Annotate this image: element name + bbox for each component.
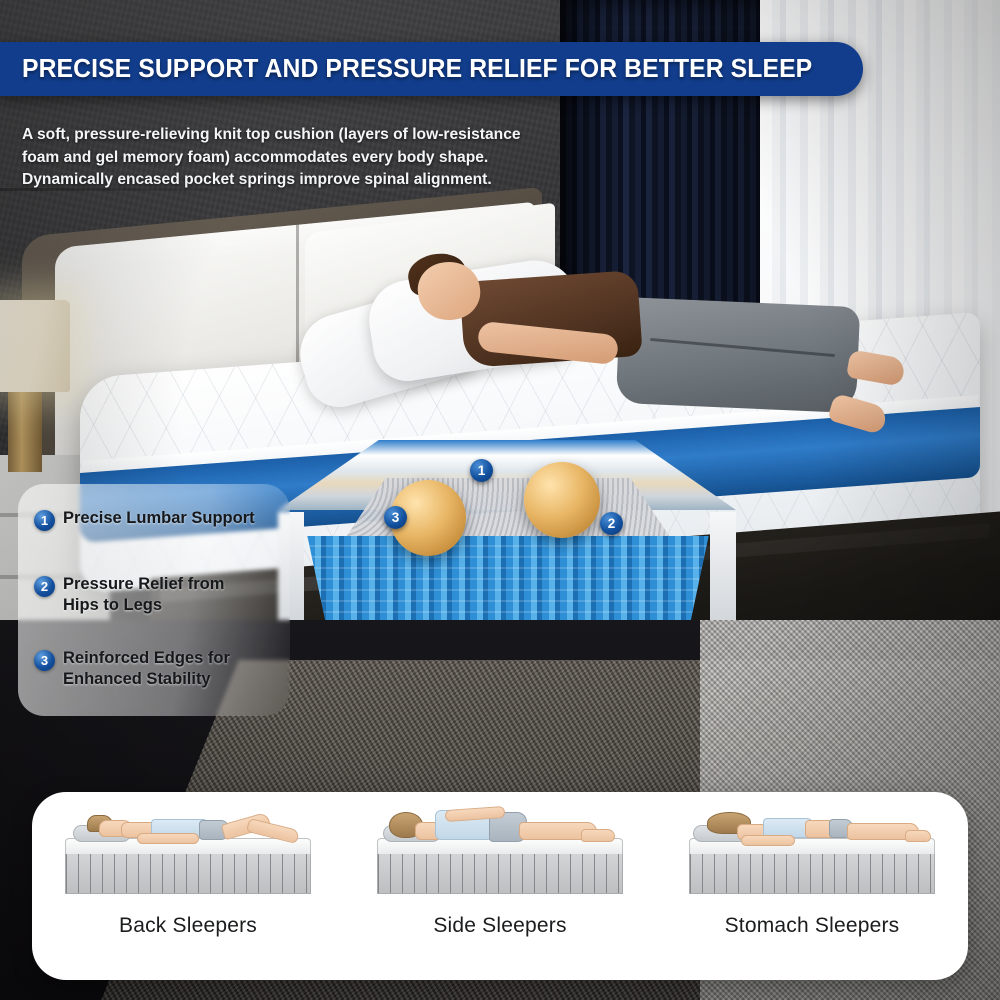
description-block: A soft, pressure-relieving knit top cush… — [22, 124, 602, 192]
sleep-position-back: Back Sleepers — [32, 792, 344, 980]
cutaway-reinforced-edge — [710, 512, 736, 632]
feature-item-2: 2 Pressure Relief from Hips to Legs — [34, 574, 224, 616]
pressure-demo-ball — [524, 462, 600, 538]
feature-label: Reinforced Edges for Enhanced Stability — [63, 648, 230, 690]
lamp-shade — [0, 300, 70, 392]
sleep-positions-card: Back Sleepers Side Sleepers — [32, 792, 968, 980]
header-banner: PRECISE SUPPORT AND PRESSURE RELIEF FOR … — [0, 42, 863, 96]
description-line-3: Dynamically encased pocket springs impro… — [22, 169, 602, 192]
infographic-root: PRECISE SUPPORT AND PRESSURE RELIEF FOR … — [0, 0, 1000, 1000]
feature-label: Pressure Relief from Hips to Legs — [63, 574, 224, 616]
illustration-mattress-base — [689, 852, 935, 894]
feature-number-badge-icon: 1 — [34, 510, 55, 531]
callout-badge-3-icon: 3 — [384, 506, 407, 529]
callout-badge-1-icon: 1 — [470, 459, 493, 482]
feature-list-panel: 1 Precise Lumbar Support 2 Pressure Reli… — [18, 484, 290, 716]
sleep-position-stomach: Stomach Sleepers — [656, 792, 968, 980]
illustration-feet — [581, 829, 615, 842]
sleep-position-label: Side Sleepers — [433, 914, 566, 938]
callout-badge-2-icon: 2 — [600, 512, 623, 535]
feature-number-badge-icon: 3 — [34, 650, 55, 671]
sleep-position-label: Stomach Sleepers — [725, 914, 900, 938]
sleep-position-label: Back Sleepers — [119, 914, 257, 938]
side-sleeper-illustration — [371, 808, 629, 900]
sleep-position-side: Side Sleepers — [344, 792, 656, 980]
lamp-base — [8, 392, 42, 472]
feature-label: Precise Lumbar Support — [63, 508, 255, 529]
stomach-sleeper-illustration — [683, 808, 941, 900]
illustration-arm — [741, 835, 795, 846]
illustration-mattress-base — [65, 852, 311, 894]
description-line-1: A soft, pressure-relieving knit top cush… — [22, 124, 602, 147]
feature-number-badge-icon: 2 — [34, 576, 55, 597]
banner-title: PRECISE SUPPORT AND PRESSURE RELIEF FOR … — [22, 55, 812, 84]
illustration-feet — [905, 830, 931, 842]
man-foot — [827, 393, 889, 435]
feature-item-1: 1 Precise Lumbar Support — [34, 508, 255, 531]
illustration-arm — [137, 833, 199, 844]
back-sleeper-illustration — [59, 808, 317, 900]
illustration-mattress-base — [377, 852, 623, 894]
feature-item-3: 3 Reinforced Edges for Enhanced Stabilit… — [34, 648, 230, 690]
description-line-2: foam and gel memory foam) accommodates e… — [22, 147, 602, 170]
